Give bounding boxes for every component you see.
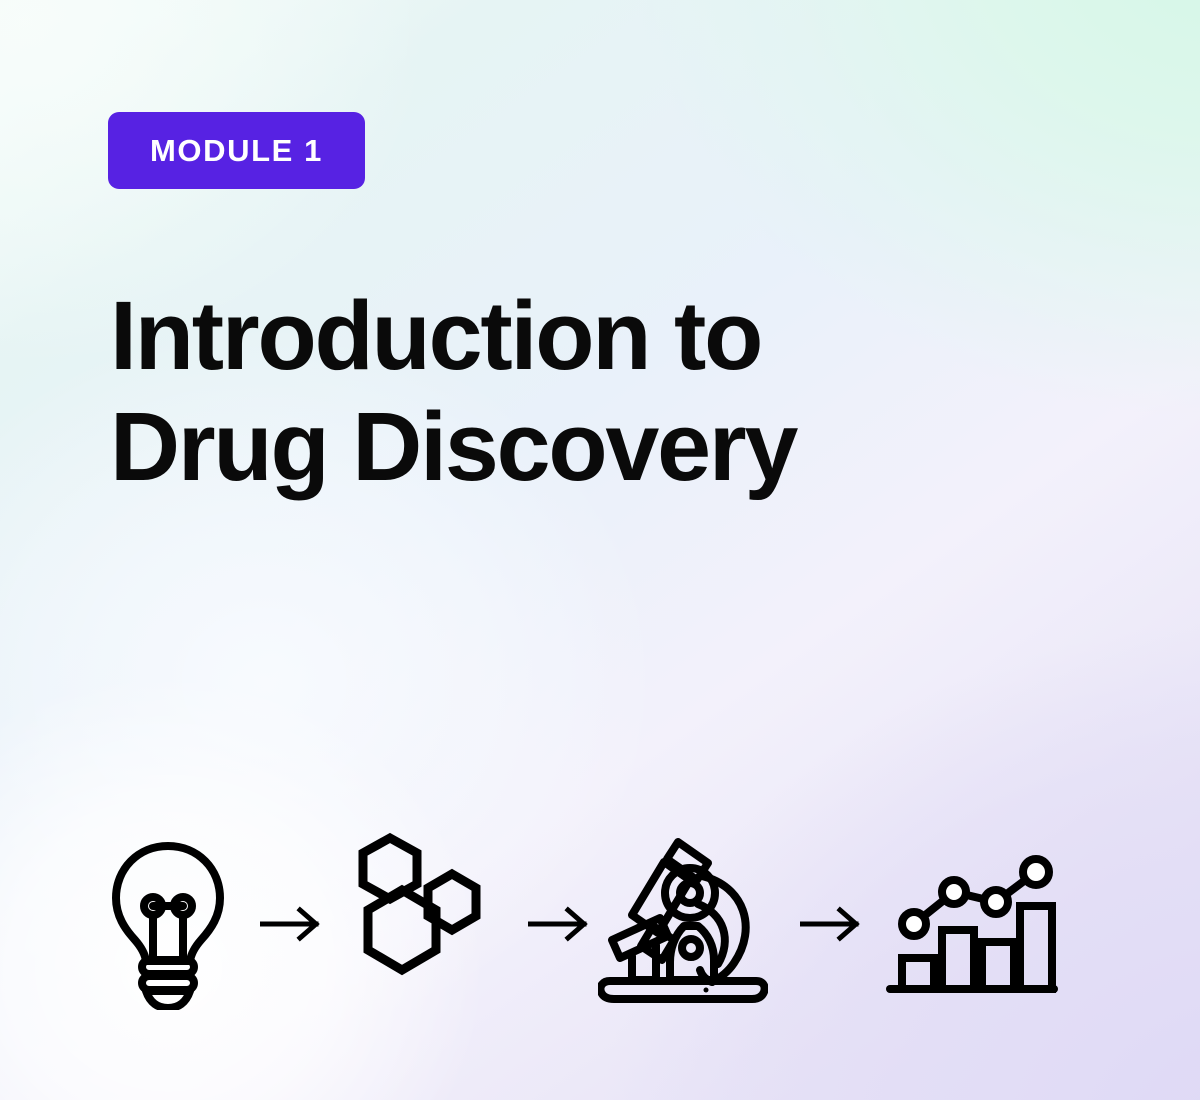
molecule-hexagons-icon [346,832,486,982]
page-title: Introduction to Drug Discovery [110,281,950,502]
page-title-line-2: Drug Discovery [110,392,950,503]
module-badge: MODULE 1 [108,112,365,189]
arrow-right-icon-2 [528,906,590,947]
arrow-right-icon-1 [260,906,322,947]
microscope-icon [598,828,768,1008]
process-flow-strip [88,820,1078,1020]
arrow-right-icon-3 [800,906,862,947]
lightbulb-icon [98,830,238,1010]
slide-canvas: MODULE 1 Introduction to Drug Discovery [0,0,1200,1100]
page-title-line-1: Introduction to [110,281,950,392]
module-badge-label: MODULE 1 [150,135,323,166]
bar-line-chart-icon [886,846,1058,1006]
